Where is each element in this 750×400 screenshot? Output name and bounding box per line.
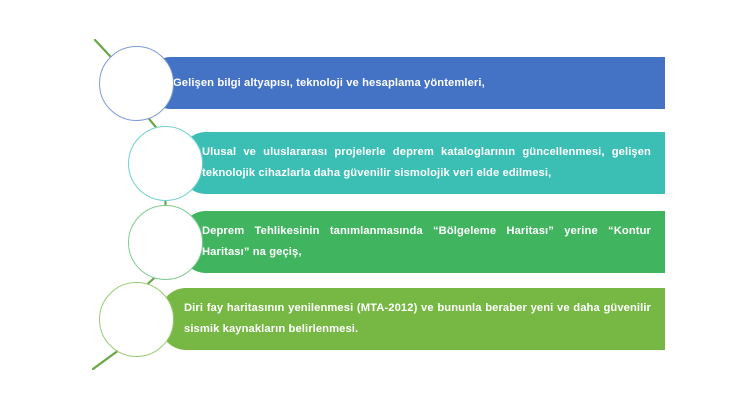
item-text-3: Deprem Tehlikesinin tanımlanmasında “Böl… bbox=[180, 221, 665, 263]
item-text-1: Gelişen bilgi altyapısı, teknoloji ve he… bbox=[145, 73, 665, 94]
slide-canvas: Gelişen bilgi altyapısı, teknoloji ve he… bbox=[0, 0, 750, 400]
item-bar-2[interactable]: Ulusal ve uluslararası projelerle deprem… bbox=[180, 132, 665, 194]
item-bar-4[interactable]: Diri fay haritasının yenilenmesi (MTA-20… bbox=[160, 288, 665, 350]
list-item[interactable]: Diri fay haritasının yenilenmesi (MTA-20… bbox=[0, 288, 750, 350]
list-item[interactable]: Gelişen bilgi altyapısı, teknoloji ve he… bbox=[0, 57, 750, 109]
item-circle-4[interactable] bbox=[99, 282, 174, 357]
list-item[interactable]: Ulusal ve uluslararası projelerle deprem… bbox=[0, 132, 750, 194]
item-circle-3[interactable] bbox=[128, 205, 203, 280]
item-circle-1[interactable] bbox=[99, 46, 174, 121]
list-item[interactable]: Deprem Tehlikesinin tanımlanmasında “Böl… bbox=[0, 211, 750, 273]
item-bar-3[interactable]: Deprem Tehlikesinin tanımlanmasında “Böl… bbox=[180, 211, 665, 273]
item-bar-1[interactable]: Gelişen bilgi altyapısı, teknoloji ve he… bbox=[145, 57, 665, 109]
item-circle-2[interactable] bbox=[128, 126, 203, 201]
item-text-2: Ulusal ve uluslararası projelerle deprem… bbox=[180, 142, 665, 184]
item-text-4: Diri fay haritasının yenilenmesi (MTA-20… bbox=[160, 298, 665, 340]
